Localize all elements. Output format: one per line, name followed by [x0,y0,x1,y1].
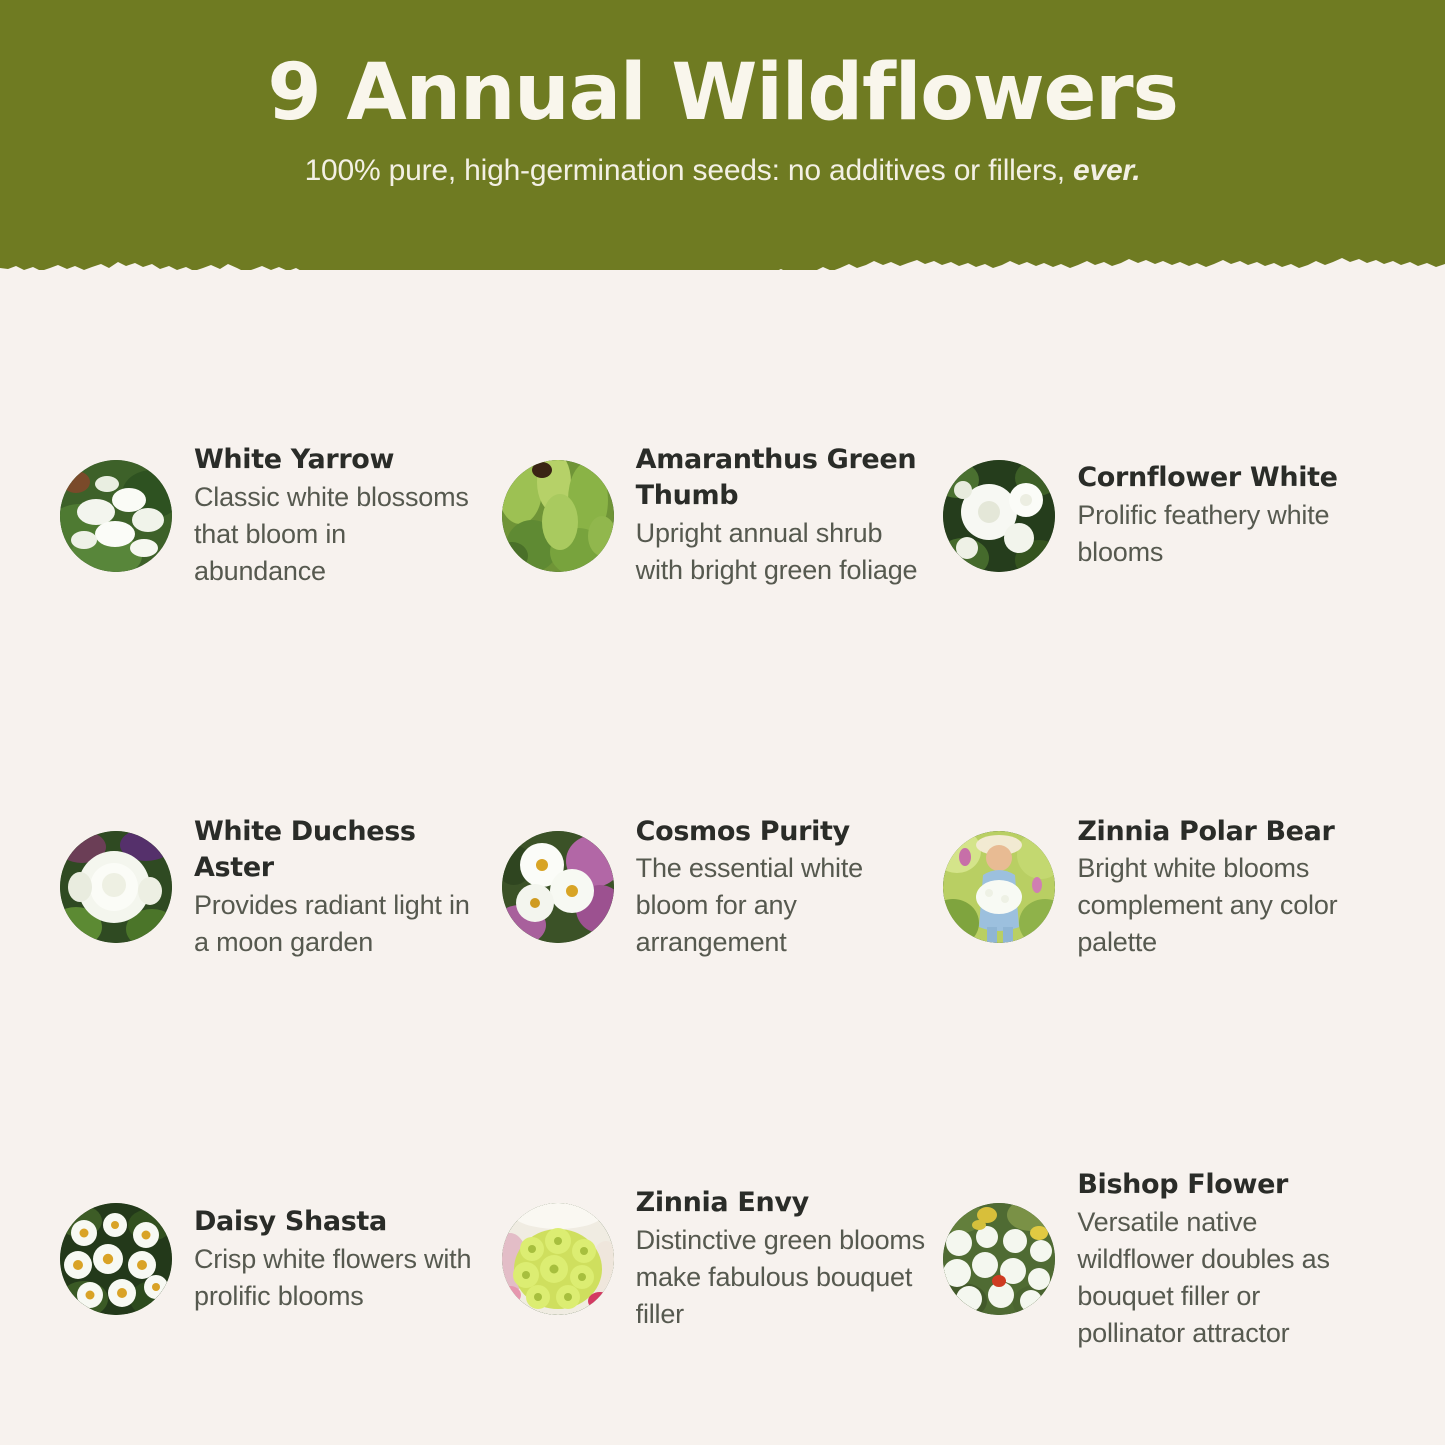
list-item: Daisy Shasta Crisp white flowers with pr… [60,1073,502,1445]
list-item: Cosmos Purity The essential white bloom … [502,702,944,1074]
item-description: Bright white blooms complement any color… [1077,850,1367,961]
item-text: Cosmos Purity The essential white bloom … [636,814,926,962]
item-text: Bishop Flower Versatile native wildflowe… [1077,1167,1367,1352]
list-item: Bishop Flower Versatile native wildflowe… [943,1073,1385,1445]
list-item: Cornflower White Prolific feathery white… [943,330,1385,702]
item-text: Amaranthus Green Thumb Upright annual sh… [636,442,926,589]
item-description: The essential white bloom for any arrang… [636,850,926,961]
item-description: Prolific feathery white blooms [1077,497,1367,571]
list-item: White Duchess Aster Provides radiant lig… [60,702,502,1074]
item-description: Versatile native wildflower doubles as b… [1077,1204,1367,1352]
item-name: Bishop Flower [1077,1167,1367,1203]
subtitle-lead: 100% pure, high-germination seeds: no ad… [305,154,1073,187]
page-title: 9 Annual Wildflowers [0,52,1445,135]
header-banner: 9 Annual Wildflowers 100% pure, high-ger… [0,0,1445,290]
item-text: White Duchess Aster Provides radiant lig… [194,814,484,961]
item-name: Daisy Shasta [194,1204,484,1240]
list-item: Amaranthus Green Thumb Upright annual sh… [502,330,944,702]
item-text: Daisy Shasta Crisp white flowers with pr… [194,1204,484,1315]
white-duchess-aster-photo [60,831,172,943]
item-text: Cornflower White Prolific feathery white… [1077,460,1367,571]
wildflower-list: White Yarrow Classic white blossoms that… [0,330,1445,1445]
list-item: Zinnia Envy Distinctive green blooms mak… [502,1073,944,1445]
subtitle-emphasis: ever. [1073,154,1140,187]
item-description: Classic white blossoms that bloom in abu… [194,479,484,590]
item-name: Zinnia Envy [636,1185,926,1221]
daisy-shasta-photo [60,1203,172,1315]
list-item: White Yarrow Classic white blossoms that… [60,330,502,702]
banner-content: 9 Annual Wildflowers 100% pure, high-ger… [0,0,1445,190]
item-name: White Yarrow [194,442,484,478]
item-name: Amaranthus Green Thumb [636,442,926,514]
item-description: Upright annual shrub with bright green f… [636,515,926,589]
item-name: Cornflower White [1077,460,1367,496]
item-name: White Duchess Aster [194,814,484,886]
item-name: Cosmos Purity [636,814,926,850]
item-text: Zinnia Polar Bear Bright white blooms co… [1077,814,1367,962]
item-description: Provides radiant light in a moon garden [194,887,484,961]
amaranthus-green-thumb-photo [502,460,614,572]
item-name: Zinnia Polar Bear [1077,814,1367,850]
item-description: Crisp white flowers with prolific blooms [194,1241,484,1315]
white-yarrow-photo [60,460,172,572]
bishop-flower-photo [943,1203,1055,1315]
item-text: Zinnia Envy Distinctive green blooms mak… [636,1185,926,1333]
item-text: White Yarrow Classic white blossoms that… [194,442,484,590]
zinnia-envy-photo [502,1203,614,1315]
list-item: Zinnia Polar Bear Bright white blooms co… [943,702,1385,1074]
item-description: Distinctive green blooms make fabulous b… [636,1222,926,1333]
cornflower-white-photo [943,460,1055,572]
zinnia-polar-bear-photo [943,831,1055,943]
cosmos-purity-photo [502,831,614,943]
torn-paper-edge [0,252,1445,290]
page-subtitle: 100% pure, high-germination seeds: no ad… [0,151,1445,190]
